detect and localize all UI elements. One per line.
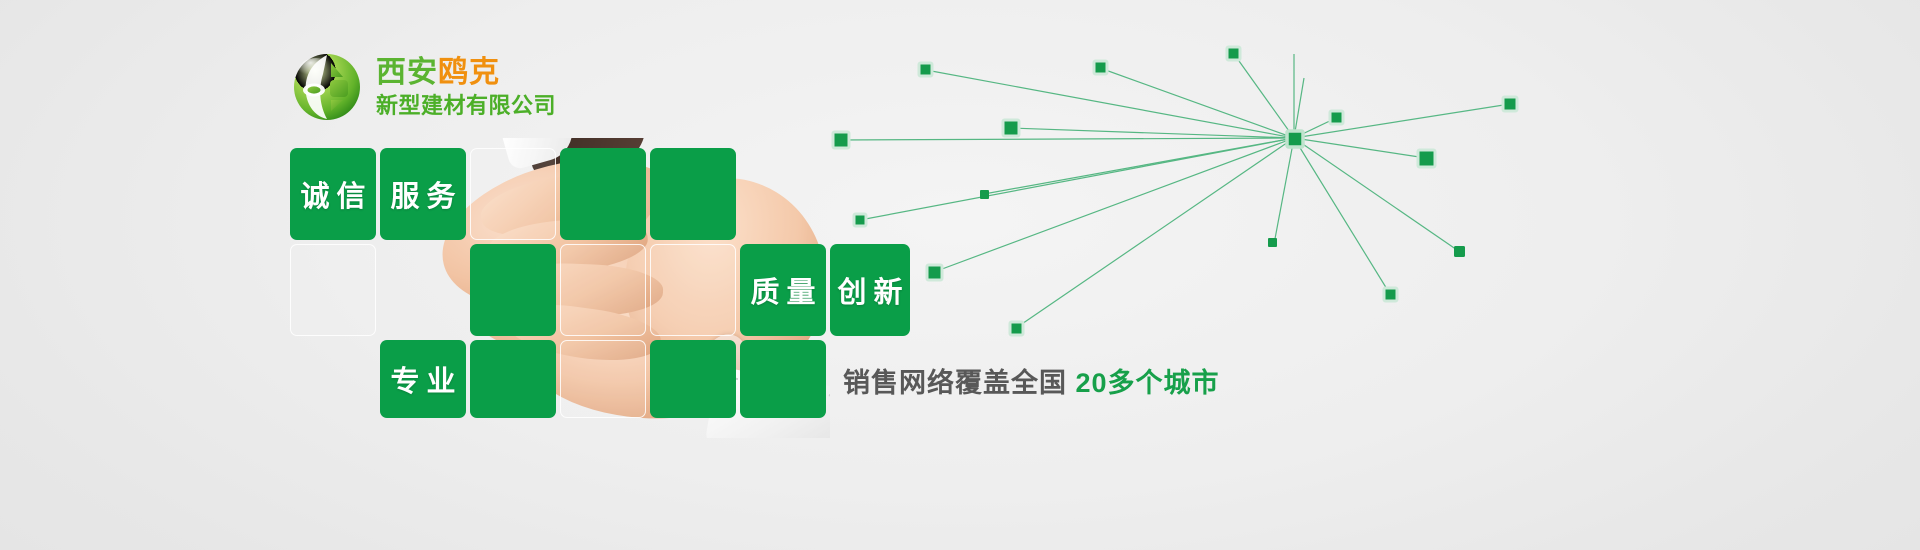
logo-name-highlight: 鸥克 <box>438 56 500 89</box>
logo-wordmark: 西安鸥克 新型建材有限公司 <box>376 53 556 120</box>
mosaic-tile-r1c4 <box>560 148 646 240</box>
promo-banner: 西安鸥克 新型建材有限公司 诚信 服务 <box>0 0 1920 550</box>
value-tile-professional[interactable]: 专业 <box>380 340 466 418</box>
mosaic-tile-r1c3 <box>470 148 556 240</box>
mosaic-tile-r2c4 <box>560 244 646 336</box>
mosaic-tile-r2c3 <box>470 244 556 336</box>
value-tile-service[interactable]: 服务 <box>380 148 466 240</box>
logo-name-prefix: 西安 <box>376 56 438 89</box>
tagline-highlight: 20多个城市 <box>1076 368 1220 398</box>
company-logo[interactable]: 西安鸥克 新型建材有限公司 <box>290 44 550 130</box>
mosaic-tile-r3c4 <box>560 340 646 418</box>
tagline-lead: 销售网络覆盖全国 <box>843 368 1067 398</box>
logo-subtitle: 新型建材有限公司 <box>376 92 556 121</box>
sales-network-world-map <box>718 8 1618 368</box>
map-city-markers <box>833 47 1517 335</box>
map-connection-lines <box>840 54 1510 328</box>
map-dot-landmass <box>718 8 1618 368</box>
value-tile-integrity[interactable]: 诚信 <box>290 148 376 240</box>
mosaic-tile-r2c1 <box>290 244 376 336</box>
tagline: 销售网络覆盖全国 20多个城市 <box>843 361 1220 400</box>
logo-company-name: 西安鸥克 <box>376 55 556 92</box>
mosaic-tile-r3c3 <box>470 340 556 418</box>
globe-emblem-icon <box>290 50 364 124</box>
